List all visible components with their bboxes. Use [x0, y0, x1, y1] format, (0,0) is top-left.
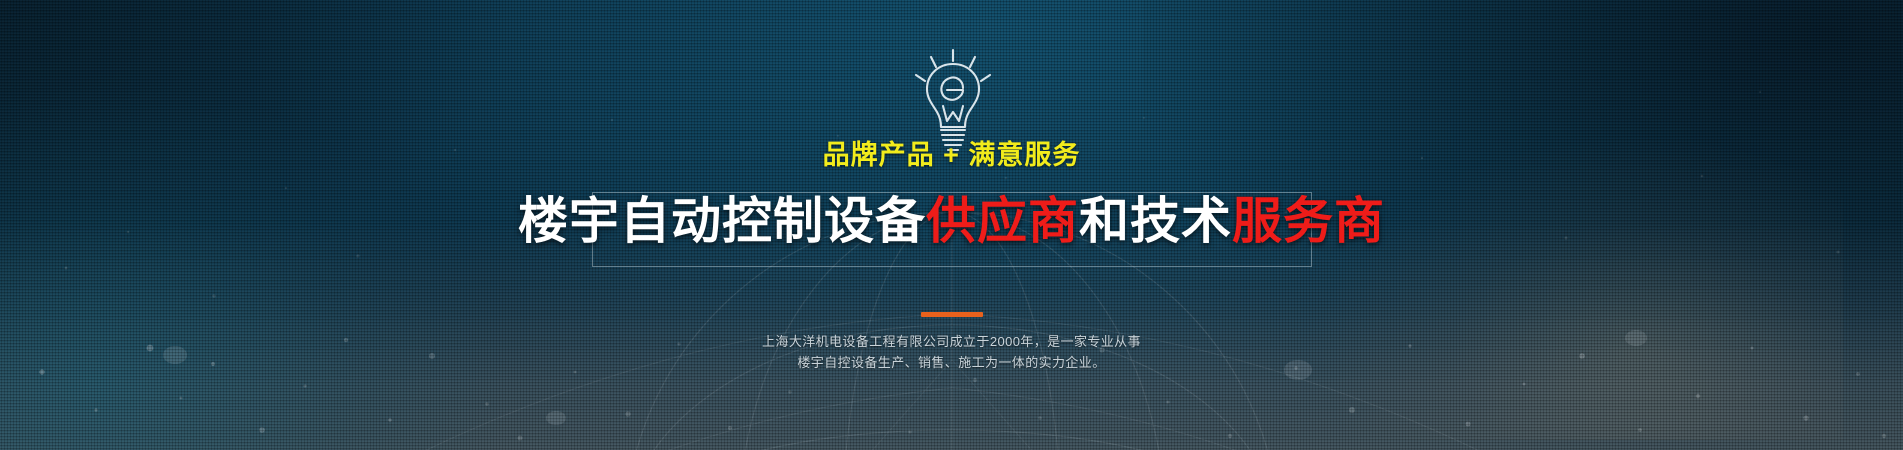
page-title: 楼宇自动控制设备供应商和技术服务商 [0, 196, 1903, 246]
headline-part-1: 楼宇自动控制设备 [518, 193, 926, 249]
company-description: 上海大洋机电设备工程有限公司成立于2000年，是一家专业从事 楼宇自控设备生产、… [0, 331, 1903, 373]
headline-highlight-supplier: 供应商 [926, 193, 1079, 249]
tagline-text: 品牌产品 + 满意服务 [801, 142, 1103, 169]
headline-highlight-service: 服务商 [1232, 193, 1385, 249]
tagline: 品牌产品 + 满意服务 [0, 142, 1903, 169]
description-line-2: 楼宇自控设备生产、销售、施工为一体的实力企业。 [0, 352, 1903, 373]
headline-text: 楼宇自动控制设备供应商和技术服务商 [518, 196, 1385, 246]
orange-divider [921, 312, 983, 317]
hero-banner: 品牌产品 + 满意服务 楼宇自动控制设备供应商和技术服务商 上海大洋机电设备工程… [0, 0, 1903, 450]
headline-part-2: 和技术 [1079, 193, 1232, 249]
banner-content: 品牌产品 + 满意服务 楼宇自动控制设备供应商和技术服务商 上海大洋机电设备工程… [0, 0, 1903, 450]
description-line-1: 上海大洋机电设备工程有限公司成立于2000年，是一家专业从事 [0, 331, 1903, 352]
